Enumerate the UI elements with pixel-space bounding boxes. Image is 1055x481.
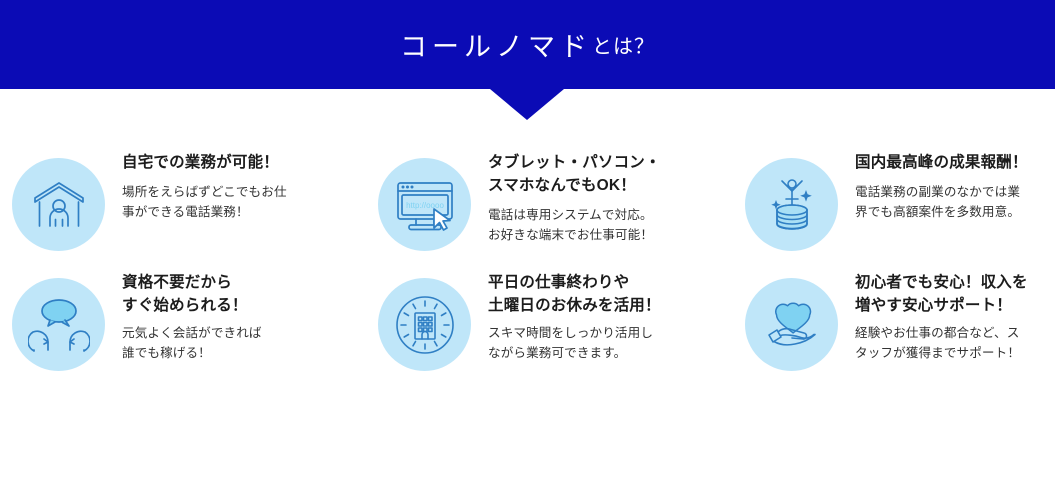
card-title: 資格不要だから すぐ始められる！ — [122, 272, 262, 318]
monitor-url-text: http://oooo — [406, 201, 444, 210]
card-title: タブレット・パソコン・ スマホなんでもOK！ — [488, 152, 661, 198]
card-body: 場所をえらばずどこでもお仕 事ができる電話業務！ — [122, 182, 287, 223]
desktop-monitor-cursor-icon: http://oooo — [378, 158, 471, 251]
feature-card-beginner-support: 初心者でも安心！収入を 増やす安心サポート！ 経験やお仕事の都合など、ス タッフ… — [727, 270, 1055, 371]
card-title: 自宅での業務が可能！ — [122, 152, 287, 175]
page-title: コールノマドとは？ — [0, 0, 1055, 89]
page-title-tail: とは？ — [592, 30, 655, 59]
card-title: 平日の仕事終わりや 土曜日のお休みを活用！ — [488, 272, 661, 318]
card-text-block: 平日の仕事終わりや 土曜日のお休みを活用！ スキマ時間をしっかり活用し ながら業… — [471, 270, 661, 364]
hand-heart-icon — [745, 278, 838, 371]
feature-row: 自宅での業務が可能！ 場所をえらばずどこでもお仕 事ができる電話業務！ http… — [0, 150, 1055, 251]
card-text-block: タブレット・パソコン・ スマホなんでもOK！ 電話は専用システムで対応。 お好き… — [471, 150, 661, 246]
page-header-banner: コールノマドとは？ — [0, 0, 1055, 89]
card-title: 初心者でも安心！収入を 増やす安心サポート！ — [855, 272, 1028, 318]
feature-card-any-device: http://oooo タブレット・パソコン・ スマホなんでもOK！ 電話は専用… — [360, 150, 727, 251]
card-text-block: 国内最高峰の成果報酬！ 電話業務の副業のなかでは業 界でも高額案件を多数用意。 — [838, 150, 1028, 223]
banner-notch-triangle-icon — [490, 89, 564, 120]
clock-building-icon — [378, 278, 471, 371]
card-body: 元気よく会話ができれば 誰でも稼げる！ — [122, 323, 262, 364]
card-text-block: 自宅での業務が可能！ 場所をえらばずどこでもお仕 事ができる電話業務！ — [105, 150, 287, 223]
card-title: 国内最高峰の成果報酬！ — [855, 152, 1028, 175]
card-text-block: 資格不要だから すぐ始められる！ 元気よく会話ができれば 誰でも稼げる！ — [105, 270, 262, 364]
card-text-block: 初心者でも安心！収入を 増やす安心サポート！ 経験やお仕事の都合など、ス タッフ… — [838, 270, 1028, 364]
card-body: 電話業務の副業のなかでは業 界でも高額案件を多数用意。 — [855, 182, 1028, 223]
card-body: 電話は専用システムで対応。 お好きな端末でお仕事可能！ — [488, 205, 661, 246]
person-on-coins-icon — [745, 158, 838, 251]
feature-card-flexible-hours: 平日の仕事終わりや 土曜日のお休みを活用！ スキマ時間をしっかり活用し ながら業… — [360, 270, 727, 371]
feature-grid: 自宅での業務が可能！ 場所をえらばずどこでもお仕 事ができる電話業務！ http… — [0, 150, 1055, 371]
page-title-kana: コールノマド — [400, 25, 592, 64]
card-body: 経験やお仕事の都合など、ス タッフが獲得までサポート！ — [855, 323, 1028, 364]
feature-row: 資格不要だから すぐ始められる！ 元気よく会話ができれば 誰でも稼げる！ — [0, 270, 1055, 371]
feature-card-high-reward: 国内最高峰の成果報酬！ 電話業務の副業のなかでは業 界でも高額案件を多数用意。 — [727, 150, 1055, 251]
feature-card-no-qualification: 資格不要だから すぐ始められる！ 元気よく会話ができれば 誰でも稼げる！ — [0, 270, 360, 371]
feature-card-home-work: 自宅での業務が可能！ 場所をえらばずどこでもお仕 事ができる電話業務！ — [0, 150, 360, 251]
card-body: スキマ時間をしっかり活用し ながら業務可できます。 — [488, 323, 661, 364]
house-person-icon — [12, 158, 105, 251]
two-heads-speech-bubble-icon — [12, 278, 105, 371]
